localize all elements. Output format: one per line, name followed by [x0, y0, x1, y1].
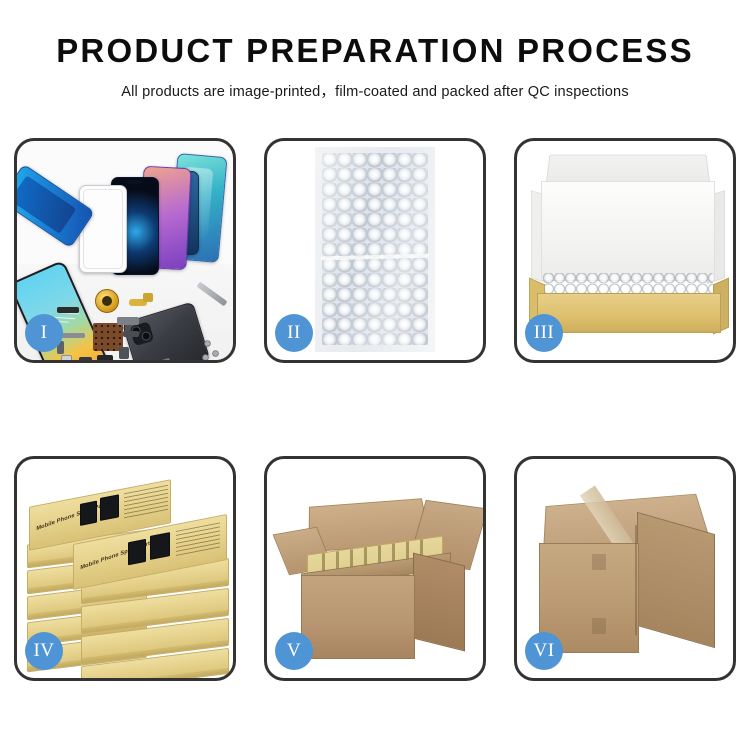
process-steps-grid: I II III [14, 138, 736, 681]
step-panel-1: I [14, 138, 236, 363]
screw-icon [203, 355, 208, 360]
carton-side-icon [413, 553, 465, 652]
step-panel-3: III [514, 138, 736, 363]
part-button-icon [119, 347, 129, 359]
box-spec-lines-icon [176, 522, 220, 557]
part-gold-tab-icon [143, 293, 153, 302]
step-badge-1: I [25, 314, 63, 352]
plastic-sheen-icon [322, 153, 428, 345]
box-label-text: Mobile Phone Spare Parts [36, 501, 110, 532]
part-flex-cable-icon [61, 333, 85, 338]
step-badge-2: II [275, 314, 313, 352]
phone-notch-icon [127, 180, 144, 184]
box-screen-image-icon [150, 532, 170, 560]
part-battery-tab-icon [97, 355, 113, 360]
carton-crease-icon [592, 554, 606, 570]
part-bracket-icon [117, 317, 139, 325]
box-screen-image-icon [100, 494, 119, 521]
part-chip-icon [57, 307, 79, 313]
part-sim-tray-icon [61, 355, 72, 360]
step-badge-4: IV [25, 632, 63, 670]
box-screen-image-icon [80, 501, 97, 526]
step-panel-4: Mobile Phone Spare Parts Mobile Phone Sp… [14, 456, 236, 681]
screen-protector-icon [79, 185, 127, 273]
carton-edge-seam-icon [635, 525, 637, 635]
step-panel-5: V [264, 456, 486, 681]
box-lid-icon [541, 181, 715, 281]
kraft-box-front-icon [537, 293, 721, 333]
step-badge-5: V [275, 632, 313, 670]
page-title: PRODUCT PREPARATION PROCESS [0, 34, 750, 69]
box-screen-image-icon [128, 539, 146, 565]
carton-crease-icon [592, 618, 606, 634]
page-subtitle: All products are image-printed，film-coat… [0, 80, 750, 101]
step-badge-6: VI [525, 632, 563, 670]
part-ribbon-icon [123, 331, 139, 337]
housing-label-icon [144, 358, 170, 360]
carton-front-icon [301, 575, 415, 659]
step-badge-3: III [525, 314, 563, 352]
box-spec-lines-icon [124, 485, 168, 520]
screw-icon [205, 341, 210, 346]
sealed-carton-side-icon [637, 512, 715, 648]
part-speaker-icon [79, 357, 92, 360]
step-panel-2: II [264, 138, 486, 363]
header: PRODUCT PREPARATION PROCESS All products… [0, 0, 750, 101]
step-panel-6: VI [514, 456, 736, 681]
gold-coil-icon [95, 289, 119, 313]
screw-icon [213, 351, 218, 356]
